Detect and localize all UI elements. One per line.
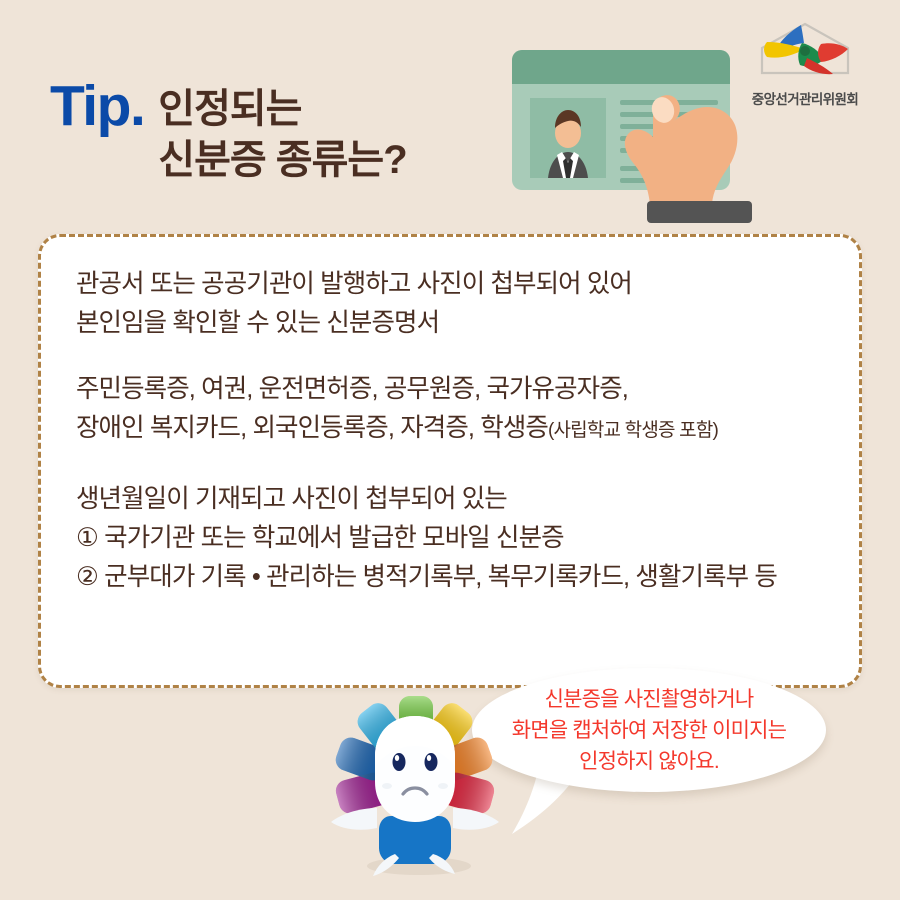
infographic-canvas: Tip. 인정되는 신분증 종류는? 중앙선거관리위원회 [0, 0, 900, 900]
title-line-1: 인정되는 [158, 84, 406, 135]
content-box: 관공서 또는 공공기관이 발행하고 사진이 첩부되어 있어 본인임을 확인할 수… [38, 234, 862, 688]
bubble-line-2: 화면을 캡처하여 저장한 이미지는 [512, 715, 786, 746]
paragraph-id-list: 주민등록증, 여권, 운전면허증, 공무원증, 국가유공자증, 장애인 복지카드… [76, 370, 718, 450]
mobile-military-line-1: 생년월일이 기재되고 사진이 첩부되어 있는 [76, 480, 777, 519]
id-list-line-1: 주민등록증, 여권, 운전면허증, 공무원증, 국가유공자증, [76, 370, 718, 409]
title-lines: 인정되는 신분증 종류는? [158, 84, 406, 186]
definition-line-2: 본인임을 확인할 수 있는 신분증명서 [76, 304, 632, 343]
id-list-line-2-note: (사립학교 학생증 포함) [548, 420, 718, 441]
alli-mascot-icon [315, 690, 515, 890]
speech-bubble-text: 신분증을 사진촬영하거나 화면을 캡처하여 저장한 이미지는 인정하지 않아요. [472, 668, 826, 792]
id-list-line-2-main: 장애인 복지카드, 외국인등록증, 자격증, 학생증 [76, 414, 548, 442]
bubble-line-1: 신분증을 사진촬영하거나 [545, 684, 754, 715]
title-line-2: 신분증 종류는? [158, 135, 406, 186]
mobile-military-item-2: ② 군부대가 기록 • 관리하는 병적기록부, 복무기록카드, 생활기록부 등 [76, 558, 777, 597]
definition-line-1: 관공서 또는 공공기관이 발행하고 사진이 첩부되어 있어 [76, 265, 632, 304]
speech-bubble: 신분증을 사진촬영하거나 화면을 캡처하여 저장한 이미지는 인정하지 않아요. [472, 668, 826, 792]
id-card-with-hand-icon [490, 18, 800, 243]
page-title: Tip. 인정되는 신분증 종류는? [50, 78, 407, 186]
paragraph-mobile-military: 생년월일이 기재되고 사진이 첩부되어 있는 ① 국가기관 또는 학교에서 발급… [76, 480, 777, 597]
paragraph-definition: 관공서 또는 공공기관이 발행하고 사진이 첩부되어 있어 본인임을 확인할 수… [76, 265, 632, 343]
mobile-military-item-1: ① 국가기관 또는 학교에서 발급한 모바일 신분증 [76, 519, 777, 558]
bubble-line-3: 인정하지 않아요. [579, 746, 719, 777]
id-list-line-2: 장애인 복지카드, 외국인등록증, 자격증, 학생증(사립학교 학생증 포함) [76, 409, 718, 450]
tip-label: Tip. [50, 78, 144, 135]
